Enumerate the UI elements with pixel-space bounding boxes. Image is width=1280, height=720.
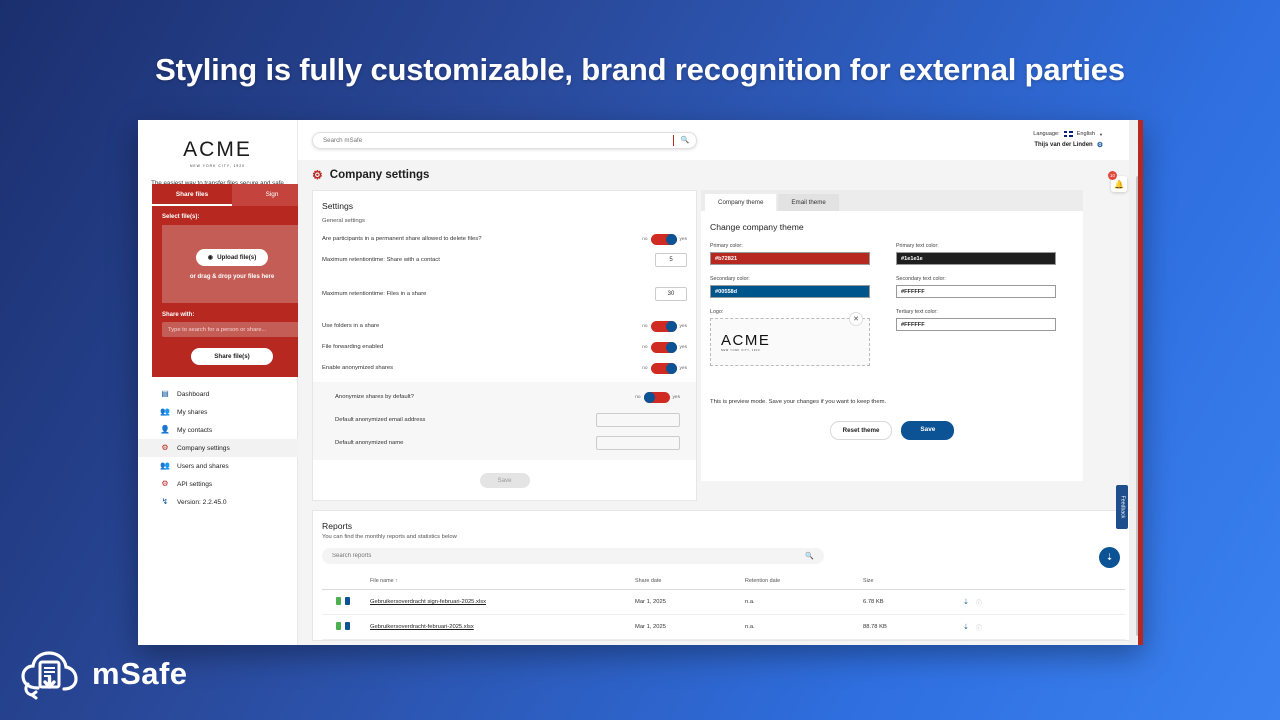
page-title: ⚙ Company settings — [298, 160, 1143, 190]
setting-label: Default anonymized name — [329, 440, 596, 446]
secondary-text-color-field: Secondary text color: #FFFFFF — [896, 276, 1056, 298]
toggle-knob — [666, 363, 677, 374]
sidebar-item-label: Users and shares — [177, 463, 229, 470]
sidebar-item-dashboard[interactable]: ▤ Dashboard — [138, 385, 298, 403]
toggle-switch[interactable] — [651, 342, 677, 353]
secondary-text-color-input[interactable]: #FFFFFF — [896, 285, 1056, 298]
setting-label: Anonymize shares by default? — [329, 394, 635, 400]
setting-row: Are participants in a permanent share al… — [322, 232, 687, 246]
share-with-label: Share with: — [162, 312, 302, 318]
search-icon[interactable]: 🔍 — [674, 136, 696, 144]
sidebar-nav: ▤ Dashboard 👥 My shares 👤 My contacts ⚙ … — [138, 385, 298, 511]
setting-row: Maximum retentiontime: Share with a cont… — [322, 253, 687, 267]
field-label: Secondary color: — [710, 276, 870, 282]
primary-color-input[interactable]: #b72821 — [710, 252, 870, 265]
user-menu[interactable]: Thijs van der Linden ⚙ — [1033, 141, 1103, 149]
retention-contact-input[interactable]: 5 — [655, 253, 687, 267]
share-with-input[interactable]: Type to search for a person or share... — [162, 322, 302, 337]
toggle-no-label: no — [642, 366, 647, 371]
tab-share-files[interactable]: Share files — [152, 184, 232, 206]
toggle-no-label: no — [642, 345, 647, 350]
file-type-icons — [336, 597, 350, 605]
tertiary-text-color-field: Tertiary text color: #FFFFFF — [896, 309, 1056, 331]
toggle-yes-label: yes — [680, 366, 687, 371]
theme-right-column: Primary text color: #1e1e1e Secondary te… — [896, 243, 1056, 377]
sidebar-item-users-and-shares[interactable]: 👥 Users and shares — [138, 457, 298, 475]
row-share-date: Mar 1, 2025 — [635, 590, 745, 615]
row-file-name[interactable]: Gebruikersoverdracht sign-februari-2025.… — [370, 590, 635, 615]
setting-label: Maximum retentiontime: Files in a share — [322, 291, 655, 297]
table-row: Gebruikersoverdracht-februari-2025.xlsx … — [322, 615, 1125, 640]
download-reports-button[interactable]: ⇣ — [1099, 547, 1120, 568]
column-file-name[interactable]: File name ↑ — [370, 574, 635, 590]
sidebar: ACME NEW YORK CITY, 1920 The easiest way… — [138, 120, 298, 645]
toggle-no-label: no — [635, 395, 640, 400]
language-label: Language: — [1033, 131, 1059, 137]
share-files-card: Share files Sign Select file(s): ◉ Uploa… — [152, 184, 312, 377]
acme-logo: ACME NEW YORK CITY, 1920 — [138, 120, 297, 168]
right-edge-accent — [1138, 120, 1143, 645]
row-retention-date: n.a. — [745, 590, 863, 615]
sidebar-item-my-contacts[interactable]: 👤 My contacts — [138, 421, 298, 439]
users-cog-icon: 👥 — [160, 462, 170, 470]
gear-icon: ⚙ — [160, 444, 170, 452]
toggle-use-folders[interactable]: no yes — [642, 321, 687, 332]
theme-title: Change company theme — [710, 222, 1074, 232]
sidebar-item-label: Dashboard — [177, 391, 209, 398]
excel-icon — [336, 622, 341, 630]
slide-title: Styling is fully customizable, brand rec… — [0, 52, 1280, 88]
language-value: English — [1077, 131, 1095, 137]
sidebar-item-version: ↯ Version: 2.2.45.0 — [138, 493, 298, 511]
share-card-body: Select file(s): ◉ Upload file(s) or drag… — [152, 206, 312, 377]
logo-upload-box[interactable]: ACME NEW YORK CITY, 1920 ✕ — [710, 318, 870, 366]
sidebar-item-my-shares[interactable]: 👥 My shares — [138, 403, 298, 421]
row-size: 88.78 KB — [863, 615, 963, 640]
upload-icon: ◉ — [208, 254, 213, 261]
toggle-knob — [666, 234, 677, 245]
default-anonymized-email-input[interactable] — [596, 413, 680, 427]
toggle-knob — [666, 342, 677, 353]
sidebar-item-label: API settings — [177, 481, 212, 488]
sidebar-item-company-settings[interactable]: ⚙ Company settings — [138, 439, 298, 457]
msafe-brand: mSafe — [18, 648, 188, 700]
row-retention-date: n.a. — [745, 615, 863, 640]
field-label: Tertiary text color: — [896, 309, 1056, 315]
toggle-switch[interactable] — [651, 363, 677, 374]
app-window: ACME NEW YORK CITY, 1920 The easiest way… — [138, 120, 1143, 645]
main-content: 🔍 Language: English ▼ Thijs van der Lind… — [298, 120, 1143, 645]
reports-table: File name ↑ Share date Retention date Si… — [322, 574, 1125, 640]
acme-logo-text: ACME — [138, 138, 297, 162]
excel-icon — [336, 597, 341, 605]
settings-panels: Settings General settings Are participan… — [298, 190, 1143, 501]
info-icon[interactable]: ⓘ — [976, 598, 982, 607]
sidebar-item-api-settings[interactable]: ⚙ API settings — [138, 475, 298, 493]
column-icons — [322, 574, 370, 590]
search-input[interactable] — [313, 137, 673, 144]
anonymize-subsection: Anonymize shares by default? no yes Defa… — [313, 382, 696, 460]
feedback-label: Feedback — [1119, 496, 1125, 519]
sort-asc-icon: ↑ — [395, 578, 398, 584]
settings-card: Settings General settings Are participan… — [312, 190, 697, 501]
setting-row: Anonymize shares by default? no yes — [329, 390, 680, 404]
logo-preview: ACME NEW YORK CITY, 1920 — [721, 332, 770, 352]
theme-body: Change company theme Primary color: #b72… — [701, 211, 1083, 481]
theme-left-column: Primary color: #b72821 Secondary color: … — [710, 243, 870, 377]
document-icon — [345, 597, 350, 605]
notification-badge: 10 — [1108, 171, 1117, 180]
msafe-logo-icon — [18, 648, 80, 700]
row-size: 6.78 KB — [863, 590, 963, 615]
user-name: Thijs van der Linden — [1034, 142, 1092, 148]
close-icon[interactable]: ✕ — [849, 312, 863, 326]
setting-label: File forwarding enabled — [322, 344, 642, 350]
secondary-color-field: Secondary color: #00558d — [710, 276, 870, 298]
chevron-down-icon[interactable]: ▼ — [1099, 132, 1103, 137]
page-title-text: Company settings — [330, 169, 430, 181]
select-files-label: Select file(s): — [162, 214, 302, 220]
default-anonymized-name-input[interactable] — [596, 436, 680, 450]
row-file-icons — [322, 615, 370, 640]
sidebar-item-label: Company settings — [177, 445, 230, 452]
upload-files-button[interactable]: ◉ Upload file(s) — [196, 249, 269, 266]
setting-row: Default anonymized email address — [329, 413, 680, 427]
document-icon — [345, 622, 350, 630]
theme-actions: Reset theme Save — [710, 405, 1074, 451]
download-icon[interactable]: ⇣ — [963, 598, 969, 606]
gear-icon: ⚙ — [160, 480, 170, 488]
toggle-no-label: no — [642, 324, 647, 329]
field-label: Primary text color: — [896, 243, 1056, 249]
field-label: Secondary text color: — [896, 276, 1056, 282]
settings-save-button[interactable]: Save — [480, 473, 530, 488]
file-type-icons — [336, 622, 350, 630]
toggle-no-label: no — [642, 237, 647, 242]
dropzone-hint: or drag & drop your files here — [190, 274, 274, 280]
feedback-tab[interactable]: Feedback — [1116, 485, 1128, 529]
column-size[interactable]: Size — [863, 574, 963, 590]
acme-logo-subtext: NEW YORK CITY, 1920 — [138, 164, 297, 168]
primary-text-color-field: Primary text color: #1e1e1e — [896, 243, 1056, 265]
setting-row: Maximum retentiontime: Files in a share … — [322, 287, 687, 301]
setting-row: Use folders in a share no yes — [322, 319, 687, 333]
toggle-yes-label: yes — [673, 395, 680, 400]
retention-files-input[interactable]: 30 — [655, 287, 687, 301]
reports-subtitle: You can find the monthly reports and sta… — [322, 534, 1125, 540]
setting-label: Default anonymized email address — [329, 417, 596, 423]
primary-text-color-input[interactable]: #1e1e1e — [896, 252, 1056, 265]
topbar: 🔍 Language: English ▼ Thijs van der Lind… — [298, 120, 1143, 160]
sidebar-item-label: My shares — [177, 409, 207, 416]
flag-uk-icon — [1064, 131, 1073, 137]
toggle-switch[interactable] — [651, 321, 677, 332]
column-share-date[interactable]: Share date — [635, 574, 745, 590]
branch-icon: ↯ — [160, 498, 170, 506]
file-name-link[interactable]: Gebruikersoverdracht sign-februari-2025.… — [370, 599, 486, 605]
upload-button-label: Upload file(s) — [217, 254, 256, 261]
toggle-yes-label: yes — [680, 345, 687, 350]
file-dropzone[interactable]: ◉ Upload file(s) or drag & drop your fil… — [162, 225, 302, 303]
setting-label: Enable anonymized shares — [322, 365, 642, 371]
setting-label: Maximum retentiontime: Share with a cont… — [322, 257, 655, 263]
gear-icon[interactable]: ⚙ — [1097, 141, 1103, 149]
settings-title: Settings — [322, 201, 687, 211]
column-actions — [963, 574, 1125, 590]
theme-color-columns: Primary color: #b72821 Secondary color: … — [710, 243, 1074, 377]
logo-preview-subtext: NEW YORK CITY, 1920 — [721, 349, 770, 352]
secondary-color-input[interactable]: #00558d — [710, 285, 870, 298]
reports-title: Reports — [322, 521, 1125, 531]
gear-icon: ⚙ — [312, 168, 323, 182]
row-actions: ⇣ⓘ — [963, 590, 1125, 615]
download-icon[interactable]: ⇣ — [963, 623, 969, 631]
toggle-anonymized-shares[interactable]: no yes — [642, 363, 687, 374]
setting-label: Are participants in a permanent share al… — [322, 236, 642, 242]
toggle-knob — [644, 392, 655, 403]
setting-label: Use folders in a share — [322, 323, 642, 329]
settings-subtitle: General settings — [322, 218, 687, 224]
language-selector[interactable]: Language: English ▼ — [1033, 131, 1103, 137]
logo-field: Logo: ACME NEW YORK CITY, 1920 ✕ — [710, 309, 870, 366]
toggle-delete-files[interactable]: no yes — [642, 234, 687, 245]
reports-search[interactable]: 🔍 — [322, 548, 824, 564]
row-actions: ⇣ⓘ — [963, 615, 1125, 640]
msafe-brand-name: mSafe — [92, 656, 188, 692]
theme-save-button[interactable]: Save — [901, 421, 954, 440]
toggle-yes-label: yes — [680, 237, 687, 242]
global-search[interactable]: 🔍 — [312, 132, 697, 149]
sidebar-item-label: Version: 2.2.45.0 — [177, 499, 227, 506]
logo-preview-text: ACME — [721, 332, 770, 349]
users-icon: 👥 — [160, 408, 170, 416]
field-label: Logo: — [710, 309, 870, 315]
column-label: File name — [370, 578, 394, 584]
file-name-link[interactable]: Gebruikersoverdracht-februari-2025.xlsx — [370, 624, 474, 630]
tertiary-text-color-input[interactable]: #FFFFFF — [896, 318, 1056, 331]
table-row: Gebruikersoverdracht sign-februari-2025.… — [322, 590, 1125, 615]
reset-theme-button[interactable]: Reset theme — [830, 421, 893, 440]
toggle-anonymize-default[interactable]: no yes — [635, 392, 680, 403]
setting-row: File forwarding enabled no yes — [322, 340, 687, 354]
sidebar-item-label: My contacts — [177, 427, 212, 434]
table-header-row: File name ↑ Share date Retention date Si… — [322, 574, 1125, 590]
toggle-knob — [666, 321, 677, 332]
column-retention-date[interactable]: Retention date — [745, 574, 863, 590]
setting-row: Default anonymized name — [329, 436, 680, 450]
toggle-yes-label: yes — [680, 324, 687, 329]
toggle-switch[interactable] — [651, 234, 677, 245]
field-label: Primary color: — [710, 243, 870, 249]
person-icon: 👤 — [160, 426, 170, 434]
tab-company-theme[interactable]: Company theme — [705, 194, 776, 211]
search-icon[interactable]: 🔍 — [805, 552, 814, 560]
row-share-date: Mar 1, 2025 — [635, 615, 745, 640]
setting-row: Enable anonymized shares no yes — [322, 361, 687, 375]
info-icon[interactable]: ⓘ — [976, 623, 982, 632]
reports-section: Reports You can find the monthly reports… — [312, 510, 1135, 641]
share-card-tabs: Share files Sign — [152, 184, 312, 206]
tab-email-theme[interactable]: Email theme — [778, 194, 838, 211]
primary-color-field: Primary color: #b72821 — [710, 243, 870, 265]
toggle-file-forwarding[interactable]: no yes — [642, 342, 687, 353]
row-file-icons — [322, 590, 370, 615]
company-theme-card: Company theme Email theme Change company… — [701, 190, 1083, 481]
theme-tabs: Company theme Email theme — [701, 190, 1083, 211]
chart-icon: ▤ — [160, 390, 170, 398]
reports-search-input[interactable] — [332, 553, 805, 559]
row-file-name[interactable]: Gebruikersoverdracht-februari-2025.xlsx — [370, 615, 635, 640]
topbar-right: Language: English ▼ Thijs van der Linden… — [1033, 131, 1129, 149]
toggle-switch[interactable] — [644, 392, 670, 403]
share-files-button[interactable]: Share file(s) — [191, 348, 273, 365]
